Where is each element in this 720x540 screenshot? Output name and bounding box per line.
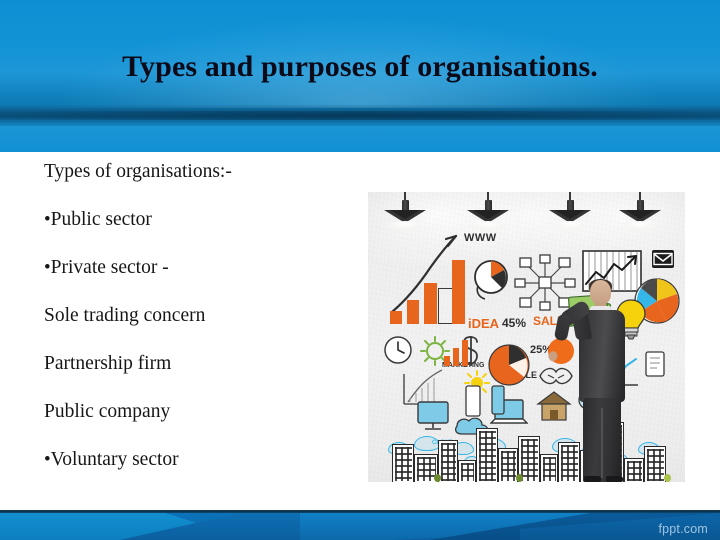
body-line-public-company: Public company xyxy=(44,400,354,448)
body-text-block: Types of organisations:- •Public sector … xyxy=(44,160,354,496)
body-line-voluntary-sector: •Voluntary sector xyxy=(44,448,354,496)
slide-title: Types and purposes of organisations. xyxy=(0,50,720,84)
label-45-percent: 45% xyxy=(502,316,526,330)
building-sketch xyxy=(392,444,414,482)
body-line-text: Voluntary sector xyxy=(51,449,179,470)
phone-sketch xyxy=(490,384,506,416)
monitor-sketch xyxy=(416,400,450,432)
clipboard-sketch xyxy=(644,350,666,378)
body-line-text: Types of organisations:- xyxy=(44,161,232,182)
label-idea: iDEA xyxy=(468,316,499,331)
body-line-text: Private sector - xyxy=(51,257,169,278)
tree-sketch xyxy=(516,474,523,482)
shoe xyxy=(606,476,623,482)
body-line-text: Public sector xyxy=(51,209,152,230)
body-line-partnership-firm: Partnership firm xyxy=(44,352,354,400)
building-sketch xyxy=(540,454,558,482)
presentation-slide: Types and purposes of organisations. Typ… xyxy=(0,0,720,540)
bar-chart-sketch xyxy=(390,252,466,324)
businessman-figure xyxy=(564,280,644,482)
envelope-icon xyxy=(652,250,674,268)
lower-pie-chart-sketch xyxy=(486,342,532,388)
building-sketch xyxy=(644,446,666,482)
leg-split xyxy=(601,408,603,478)
building-sketch xyxy=(476,428,498,482)
building-sketch xyxy=(458,460,476,482)
small-bar-chart-sketch xyxy=(444,338,474,366)
body-line-sole-trading-concern: Sole trading concern xyxy=(44,304,354,352)
label-www: WWW xyxy=(464,232,497,244)
bullet-marker: • xyxy=(44,257,51,278)
tree-sketch xyxy=(664,474,671,482)
pie-chart-sketch xyxy=(472,258,512,302)
header-bottom-sheen xyxy=(0,126,720,152)
bullet-marker: • xyxy=(44,209,51,230)
building-sketch xyxy=(438,440,458,482)
slide-footer-band: fppt.com xyxy=(0,510,720,540)
body-line-text: Public company xyxy=(44,401,170,422)
body-line-text: Sole trading concern xyxy=(44,305,205,326)
body-line-private-sector: •Private sector - xyxy=(44,256,354,304)
header-shadow-core xyxy=(0,111,720,120)
footer-top-line xyxy=(0,510,720,513)
building-sketch xyxy=(498,448,518,482)
clock-sketch xyxy=(382,334,414,366)
body-line-heading: Types of organisations:- xyxy=(44,160,354,208)
tablet-sketch xyxy=(464,384,482,418)
cloud-sketch xyxy=(414,436,440,451)
body-line-text: Partnership firm xyxy=(44,353,171,374)
tree-sketch xyxy=(434,474,441,482)
fppt-watermark: fppt.com xyxy=(658,522,708,536)
body-line-public-sector: •Public sector xyxy=(44,208,354,256)
shoe xyxy=(584,476,601,482)
slide-image-business-infographics: WWW xyxy=(368,192,685,482)
bullet-marker: • xyxy=(44,449,51,470)
